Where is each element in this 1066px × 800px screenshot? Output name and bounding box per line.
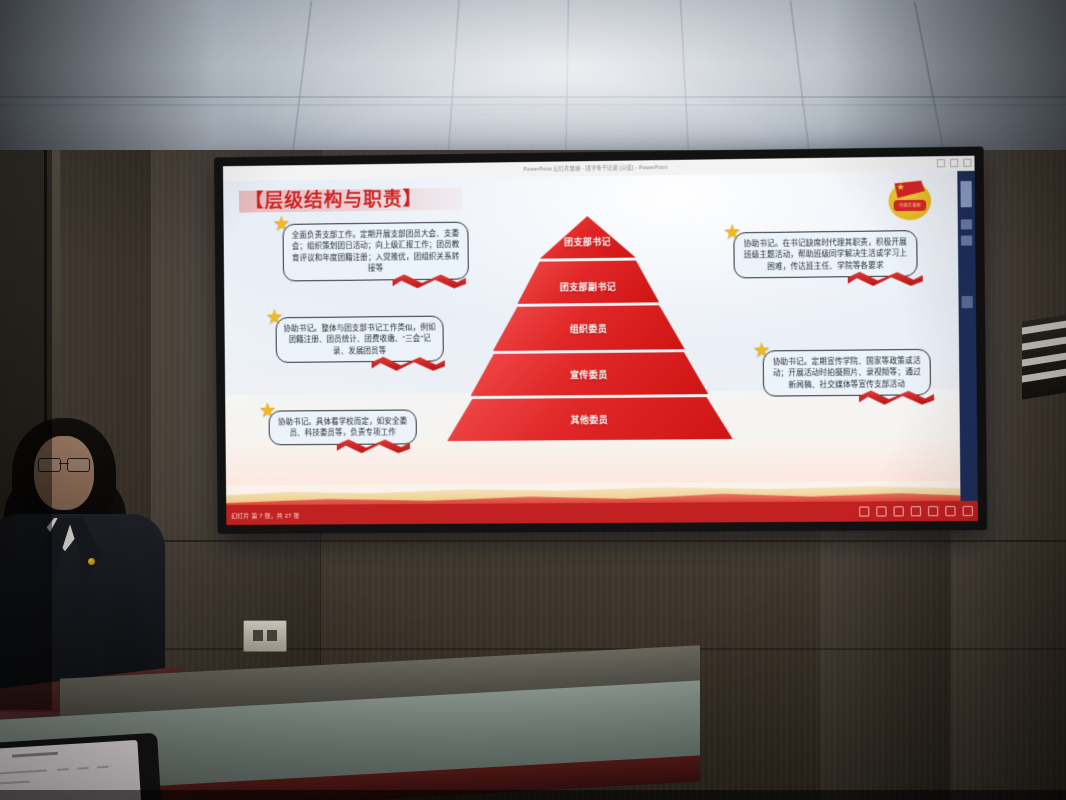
star-icon: ★ (752, 340, 772, 360)
slide-ground-decoration (226, 459, 961, 506)
pyramid-level-label: 其他委员 (570, 412, 608, 425)
wall-mounted-display[interactable]: PowerPoint 幻灯片放映 - 团学骨干培训 [只读] - PowerPo… (214, 146, 987, 533)
wall-outlet (243, 620, 287, 652)
conference-room-scene: PowerPoint 幻灯片放映 - 团学骨干培训 [只读] - PowerPo… (0, 0, 1066, 800)
scroll-button[interactable] (961, 235, 972, 245)
left-shadow (0, 150, 52, 710)
air-vent-icon (1022, 314, 1066, 399)
scroll-button[interactable] (961, 219, 972, 229)
tablet-doc-line (0, 769, 47, 774)
tablet-doc-line (57, 768, 69, 771)
ceiling (0, 0, 1066, 172)
scrollbar[interactable] (957, 171, 977, 501)
lens-right (67, 458, 90, 472)
pyramid-level-1[interactable]: 团支部书记 (539, 216, 635, 259)
hierarchy-pyramid: 团支部书记 团支部副书记 组织委员 宣传委员 其他委员 (463, 215, 715, 439)
slide-counter: 幻灯片 第 7 张，共 27 张 (231, 507, 859, 519)
tablet-doc-line (77, 767, 89, 770)
star-icon: ★ (723, 222, 743, 242)
normal-view-icon[interactable] (911, 506, 921, 516)
callout-organization[interactable]: ★ 协助书记。整体与团支部书记工作类似，例如团籍注册、团员统计、团费收缴、“三会… (276, 316, 444, 364)
tablet-doc-heading (12, 752, 58, 758)
restore-icon[interactable] (950, 159, 958, 167)
callout-secretary[interactable]: ★ 全面负责支部工作。定期开展支部团员大会、支委会；组织策划团日活动；向上级汇报… (282, 222, 468, 282)
callout-text: 协助书记。定期宣传学院、国家等政策或活动；开展活动时拍摄照片、录视频等；通过新闻… (771, 355, 923, 391)
accessibility-icon[interactable] (859, 506, 869, 516)
window-controls[interactable] (937, 159, 972, 168)
comments-icon[interactable] (894, 506, 904, 516)
bottom-shadow (0, 790, 1066, 800)
pyramid-level-label: 组织委员 (570, 321, 608, 334)
lapel-pin-icon (88, 558, 95, 565)
communist-youth-league-emblem: ★ 中国共青团 (886, 177, 933, 222)
close-icon[interactable] (963, 159, 971, 167)
scrollbar-thumb[interactable] (960, 181, 971, 207)
pyramid-level-label: 宣传委员 (570, 367, 608, 380)
callout-text: 协助书记。整体与团支部书记工作类似，例如团籍注册、团员统计、团费收缴、“三会”记… (283, 322, 435, 357)
slide-title-text: 【层级结构与职责】 (245, 184, 423, 213)
emblem-star-icon: ★ (896, 183, 905, 192)
ribbon-decoration (859, 389, 934, 405)
sorter-view-icon[interactable] (928, 506, 938, 516)
pyramid-level-4[interactable]: 宣传委员 (470, 352, 708, 396)
callout-text: 协助书记。在书记缺席时代理其职责，积极开展班级主题活动，帮助班级同学解决生活或学… (741, 236, 909, 272)
pyramid-level-2[interactable]: 团支部副书记 (517, 260, 659, 304)
callout-text: 全面负责支部工作。定期开展支部团员大会、支委会；组织策划团日活动；向上级汇报工作… (290, 228, 460, 275)
status-view-controls[interactable] (859, 506, 973, 517)
pyramid-level-label: 团支部书记 (564, 235, 611, 249)
callout-text: 协助书记。具体看学校而定，如安全委员、科技委员等，负责专项工作 (276, 415, 408, 439)
slideshow-icon[interactable] (963, 506, 973, 516)
ceiling-vignette (0, 0, 1066, 172)
callout-publicity[interactable]: ★ 协助书记。定期宣传学院、国家等政策或活动；开展活动时拍摄照片、录视频等；通过… (763, 349, 931, 397)
pyramid-level-label: 团支部副书记 (560, 280, 616, 294)
page-title: 【层级结构与职责】 (245, 184, 423, 213)
notes-icon[interactable] (876, 506, 886, 516)
tablet-doc-line (0, 781, 30, 785)
callout-other[interactable]: ★ 协助书记。具体看学校而定，如安全委员、科技委员等，负责专项工作 (269, 409, 417, 445)
star-icon: ★ (273, 214, 293, 234)
star-icon: ★ (266, 307, 286, 327)
reading-view-icon[interactable] (945, 506, 955, 516)
display-screen[interactable]: PowerPoint 幻灯片放映 - 团学骨干培训 [只读] - PowerPo… (223, 156, 978, 525)
callout-deputy[interactable]: ★ 协助书记。在书记缺席时代理其职责，积极开展班级主题活动，帮助班级同学解决生活… (733, 230, 917, 279)
pyramid-level-5[interactable]: 其他委员 (447, 397, 733, 441)
slide-canvas[interactable]: 【层级结构与职责】 ★ 中国共青团 团支部书记 团支部副书记 (223, 171, 960, 505)
star-icon: ★ (259, 401, 279, 421)
window-title: PowerPoint 幻灯片放映 - 团学骨干培训 [只读] - PowerPo… (523, 164, 667, 173)
pyramid-level-3[interactable]: 组织委员 (492, 305, 684, 351)
scroll-button[interactable] (962, 296, 973, 308)
minimize-icon[interactable] (937, 159, 945, 167)
emblem-ring-text: 中国共青团 (894, 200, 927, 212)
tablet-doc-line (97, 766, 109, 769)
